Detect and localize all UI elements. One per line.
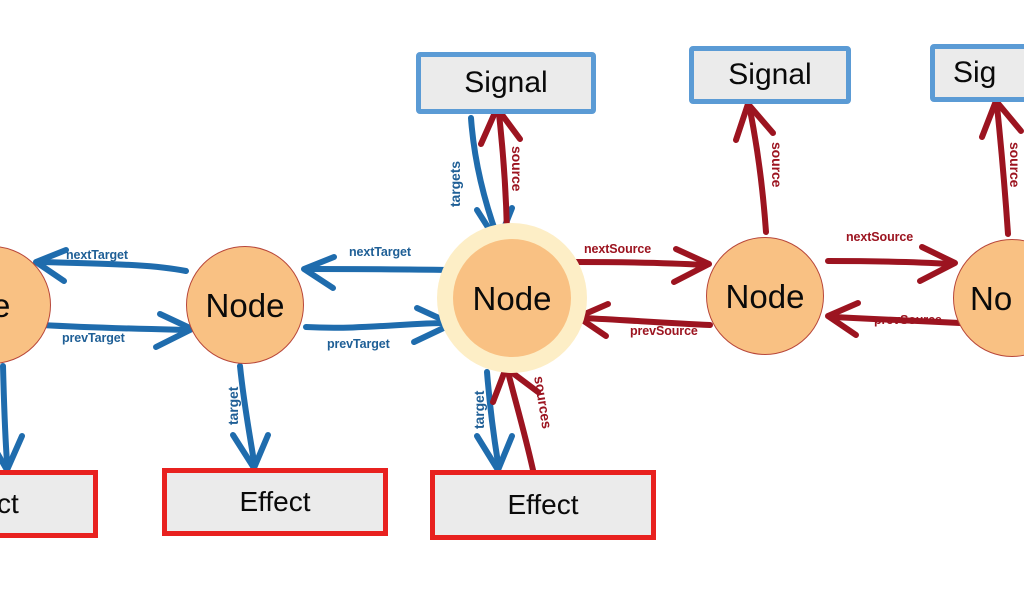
edge-label-prevTarget-1: prevTarget [62,332,125,345]
node-label: Node [206,289,285,322]
node-circle-3[interactable]: Node [706,237,824,355]
signal-label: Sig [953,58,996,88]
signal-box-2[interactable]: Signal [689,46,851,104]
edge-target-0 [0,366,22,470]
edge-label-nextTarget-2: nextTarget [349,246,411,259]
effect-box-2[interactable]: Effect [430,470,656,540]
edge-label-source-2: source [770,142,784,187]
signal-box-3[interactable]: Sig [930,44,1024,102]
edge-label-source-1: source [510,146,524,191]
node-label: No [970,282,1012,315]
edge-label-nextTarget-1: nextTarget [66,249,128,262]
edge-label-nextSource-2: nextSource [846,231,913,244]
edge-label-prevTarget-2: prevTarget [327,338,390,351]
node-circle-0[interactable]: de [0,246,51,364]
edge-nextTarget-2 [304,257,448,288]
signal-label: Signal [464,68,547,98]
edge-label-target-1: target [226,387,240,425]
node-circle-1[interactable]: Node [186,246,304,364]
signal-box-1[interactable]: Signal [416,52,596,114]
edge-label-sources-2: sources [532,375,554,430]
node-circle-2-highlighted[interactable]: Node [453,239,571,357]
effect-label: Effect [239,488,310,516]
effect-box-1[interactable]: Effect [162,468,388,536]
edge-targets-1 [471,118,512,243]
node-circle-4[interactable]: No [953,239,1024,357]
edge-source-2 [736,104,773,232]
effect-label: Effect [507,491,578,519]
signal-label: Signal [728,60,811,90]
node-label: de [0,289,10,322]
edge-label-prevSource-1: prevSource [630,325,698,338]
edge-nextSource-2 [828,247,955,281]
effect-label: ct [0,490,19,518]
edge-label-nextSource-1: nextSource [584,243,651,256]
edge-label-source-3: source [1008,142,1022,187]
node-label: Node [473,282,552,315]
effect-box-0[interactable]: ct [0,470,98,538]
node-label: Node [726,280,805,313]
edge-label-target-2: target [472,391,486,429]
edge-label-prevSource-2: prevSource [874,314,942,327]
edge-label-targets-1: targets [448,161,462,207]
diagram-canvas: de Node Node Node No Signal Signal Sig c… [0,0,1024,600]
